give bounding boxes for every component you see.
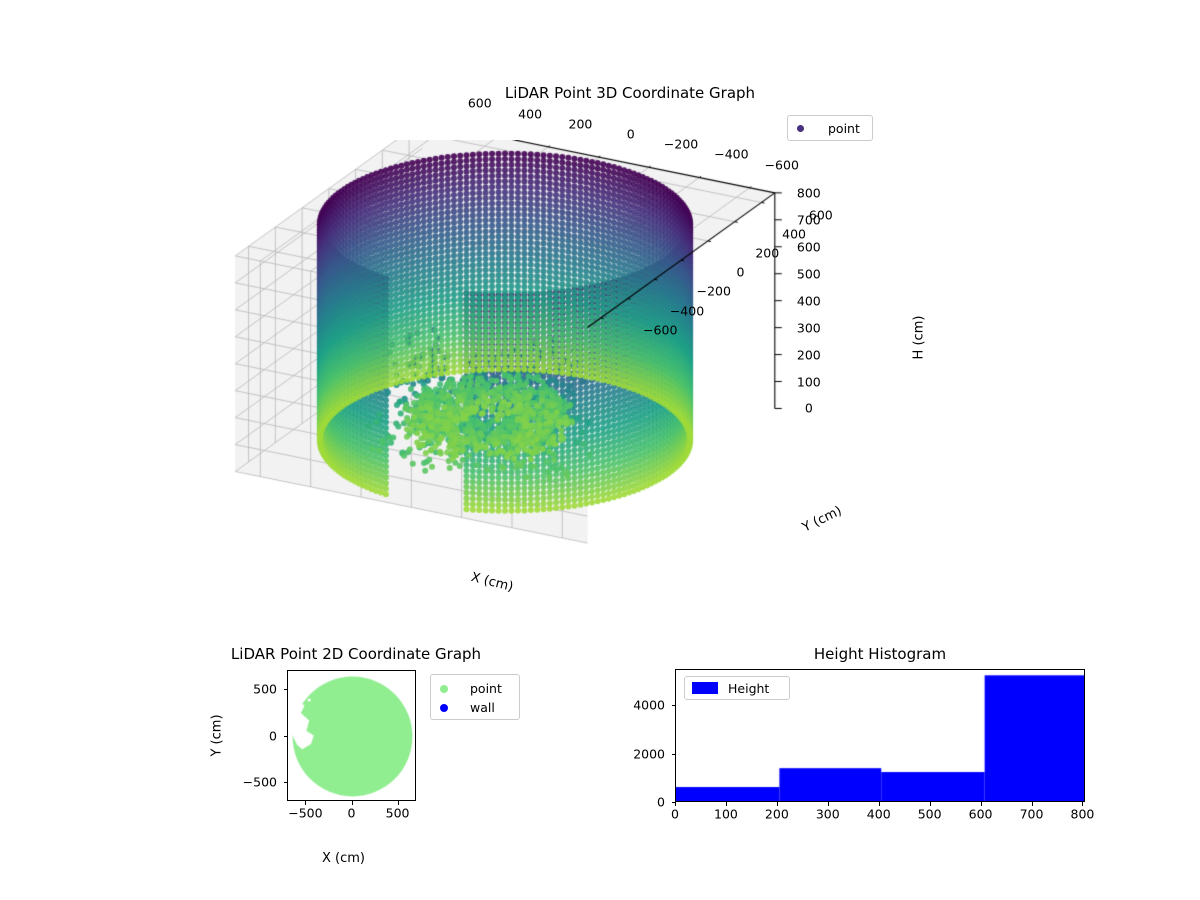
plot3d-ytick-6: 600 [468,96,492,111]
legend-label-point-2d: point [470,681,502,696]
plot3d-ytick-0: −600 [765,157,799,172]
plot2d-xaxis-label: X (cm) [322,851,365,866]
histogram-xtickmark-7 [1032,802,1033,806]
histogram-xtick-3: 300 [816,807,840,822]
plot2d-ytickmark-2 [284,689,288,690]
plot3d-xtick-4: 200 [755,245,779,260]
histogram-xtick-0: 0 [671,807,679,822]
plot3d-xtick-1: −400 [670,303,704,318]
histogram-xtick-4: 400 [867,807,891,822]
histogram-xtickmark-3 [828,802,829,806]
histogram-xtick-6: 600 [969,807,993,822]
histogram-title: Height Histogram [675,645,1085,663]
plot3d-ztick-8: 800 [797,185,821,200]
histogram-xtickmark-1 [726,802,727,806]
histogram-xtickmark-6 [981,802,982,806]
histogram-xtick-1: 100 [714,807,738,822]
plot3d-ztick-1: 100 [797,374,821,389]
plot2d-ytick-2: 500 [253,681,277,696]
histogram-xtick-8: 800 [1071,807,1095,822]
plot3d-ztick-4: 400 [797,293,821,308]
plot3d-ztick-3: 300 [797,320,821,335]
plot3d-ytick-1: −400 [714,147,748,162]
plot2d-yaxis-label: Y (cm) [210,714,225,756]
histogram-xtickmark-2 [777,802,778,806]
plot3d-zaxis-label: H (cm) [911,316,926,360]
histogram-ytick-1: 2000 [633,746,665,761]
histogram-xtickmark-8 [1082,802,1083,806]
histogram-legend: Height [684,676,790,700]
histogram-ytickmark-2 [672,705,676,706]
plot2d-xtick-0: −500 [288,806,322,821]
plot2d-xtickmark-0 [305,801,306,805]
legend-marker-wall-2d [440,704,448,712]
legend-row-wall: wall [440,698,519,717]
legend-marker-point [797,125,804,132]
plot3d-ytick-4: 200 [569,116,593,131]
legend-label-height: Height [728,681,769,696]
plot3d-ytick-3: 0 [627,126,635,141]
plot2d-title: LiDAR Point 2D Coordinate Graph [86,645,626,663]
plot3d-ztick-0: 0 [805,401,813,416]
plot2d-ytickmark-1 [284,736,288,737]
plot3d-xtick-0: −600 [643,322,677,337]
plot2d-ytick-0: −500 [243,775,277,790]
legend-marker-point-2d [440,685,448,693]
plot2d-legend: point wall [430,674,520,720]
plot2d-ytickmark-0 [284,782,288,783]
plot2d-xtickmark-1 [352,801,353,805]
histogram-xtick-5: 500 [918,807,942,822]
plot3d-ztick-5: 500 [797,266,821,281]
plot2d-xtick-1: 0 [348,806,356,821]
plot3d-title: LiDAR Point 3D Coordinate Graph [250,84,1010,102]
histogram-xtick-7: 700 [1020,807,1044,822]
plot3d-ztick-7: 700 [797,212,821,227]
legend-swatch-height [692,682,718,694]
plot2d-canvas [288,671,416,801]
matplotlib-figure: LiDAR Point 3D Coordinate Graph point −6… [0,0,1200,900]
histogram-xtickmark-5 [930,802,931,806]
plot3d-legend: point [787,115,873,141]
plot2d-axes [287,670,416,801]
plot3d-ytick-5: 400 [518,106,542,121]
legend-row-point: point [440,679,519,698]
legend-label-wall-2d: wall [470,700,495,715]
plot3d-ztick-6: 600 [797,239,821,254]
histogram-ytick-2: 4000 [633,698,665,713]
histogram-xtickmark-4 [879,802,880,806]
plot2d-xtickmark-2 [398,801,399,805]
histogram-xtickmark-0 [675,802,676,806]
histogram-ytickmark-1 [672,754,676,755]
histogram-ytick-0: 0 [657,795,665,810]
plot3d-ytick-2: −200 [664,137,698,152]
legend-label-point: point [828,121,860,136]
plot3d-xtick-3: 0 [737,265,745,280]
histogram-ytickmark-0 [672,802,676,803]
plot2d-xtick-2: 500 [386,806,410,821]
plot3d-xtick-2: −200 [697,284,731,299]
plot2d-ytick-1: 0 [269,728,277,743]
plot3d-ztick-2: 200 [797,347,821,362]
histogram-xtick-2: 200 [765,807,789,822]
